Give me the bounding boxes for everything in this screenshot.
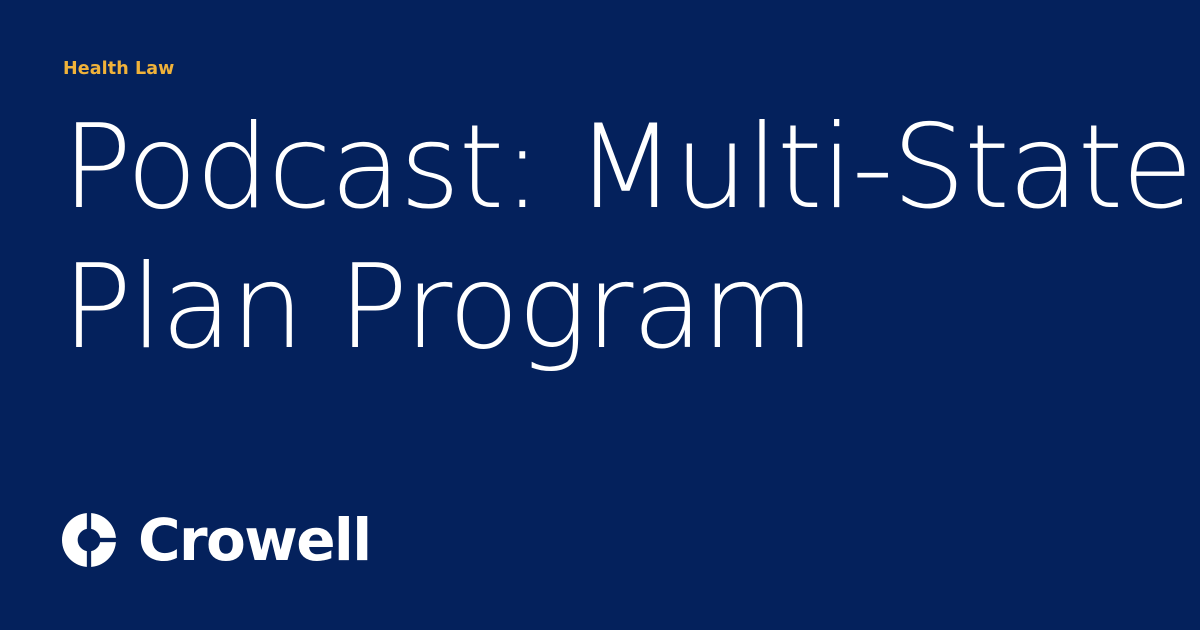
brand-logo-lockup[interactable]: Crowell — [62, 512, 371, 568]
page-title-line-2: Plan Program — [62, 238, 1137, 378]
crowell-wordmark: Crowell — [138, 513, 371, 567]
practice-area-eyebrow: Health Law — [63, 57, 174, 81]
page-title-line-1: Podcast: Multi-State — [62, 98, 1137, 238]
page-title: Podcast: Multi-State Plan Program — [62, 98, 1137, 378]
social-share-card: Health Law Podcast: Multi-State Plan Pro… — [0, 0, 1200, 630]
crowell-c-mark-icon — [62, 513, 116, 567]
